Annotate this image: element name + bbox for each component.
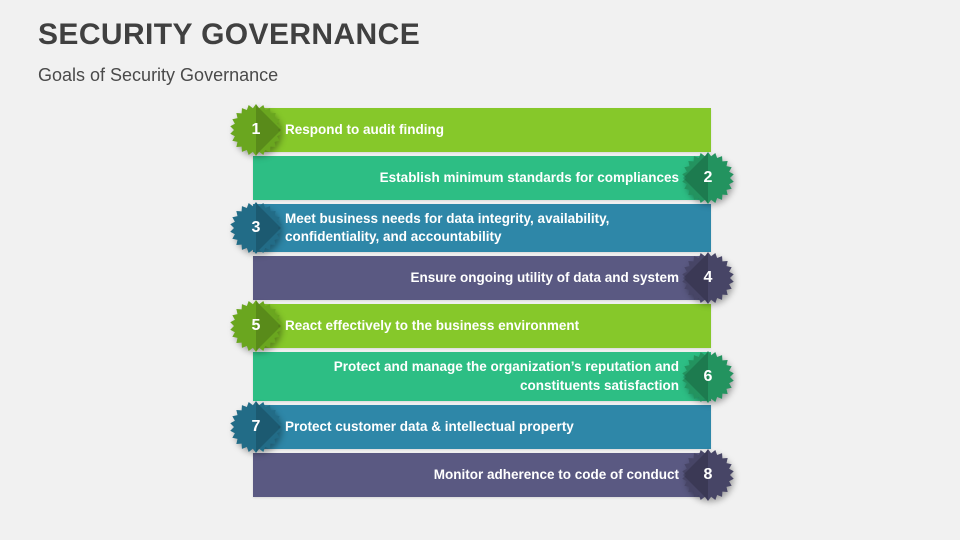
- goal-row[interactable]: Protect and manage the organization’s re…: [253, 352, 711, 400]
- goal-number-badge: 7: [229, 400, 283, 454]
- goal-row[interactable]: Protect customer data & intellectual pro…: [253, 405, 711, 449]
- goal-label: Ensure ongoing utility of data and syste…: [410, 269, 679, 287]
- goal-label: Respond to audit finding: [285, 121, 444, 139]
- goal-number-badge: 4: [681, 251, 735, 305]
- goal-bar[interactable]: React effectively to the business enviro…: [253, 304, 711, 348]
- goal-label: React effectively to the business enviro…: [285, 317, 579, 335]
- page-title: SECURITY GOVERNANCE: [38, 18, 420, 53]
- slide-header: SECURITY GOVERNANCE Goals of Security Go…: [38, 18, 420, 86]
- goals-list: Respond to audit finding1Establish minim…: [253, 108, 711, 501]
- goal-number-badge: 1: [229, 103, 283, 157]
- goal-row[interactable]: Establish minimum standards for complian…: [253, 156, 711, 200]
- goal-number-badge: 8: [681, 448, 735, 502]
- goal-label: Establish minimum standards for complian…: [380, 169, 679, 187]
- goal-number-badge: 5: [229, 299, 283, 353]
- goal-label: Protect customer data & intellectual pro…: [285, 418, 574, 436]
- goal-number-badge: 6: [681, 350, 735, 404]
- goal-row[interactable]: Ensure ongoing utility of data and syste…: [253, 256, 711, 300]
- goal-bar[interactable]: Meet business needs for data integrity, …: [253, 204, 711, 252]
- goal-label: Monitor adherence to code of conduct: [434, 466, 679, 484]
- goal-bar[interactable]: Protect and manage the organization’s re…: [253, 352, 711, 400]
- goal-bar[interactable]: Ensure ongoing utility of data and syste…: [253, 256, 711, 300]
- goal-bar[interactable]: Respond to audit finding: [253, 108, 711, 152]
- goal-row[interactable]: React effectively to the business enviro…: [253, 304, 711, 348]
- goal-bar[interactable]: Monitor adherence to code of conduct: [253, 453, 711, 497]
- goal-row[interactable]: Monitor adherence to code of conduct8: [253, 453, 711, 497]
- goal-row[interactable]: Respond to audit finding1: [253, 108, 711, 152]
- goal-label: Meet business needs for data integrity, …: [285, 210, 697, 246]
- goal-number-badge: 2: [681, 151, 735, 205]
- goal-label: Protect and manage the organization’s re…: [267, 358, 679, 394]
- goal-bar[interactable]: Protect customer data & intellectual pro…: [253, 405, 711, 449]
- goal-number-badge: 3: [229, 201, 283, 255]
- goal-row[interactable]: Meet business needs for data integrity, …: [253, 204, 711, 252]
- goal-bar[interactable]: Establish minimum standards for complian…: [253, 156, 711, 200]
- page-subtitle: Goals of Security Governance: [38, 65, 420, 86]
